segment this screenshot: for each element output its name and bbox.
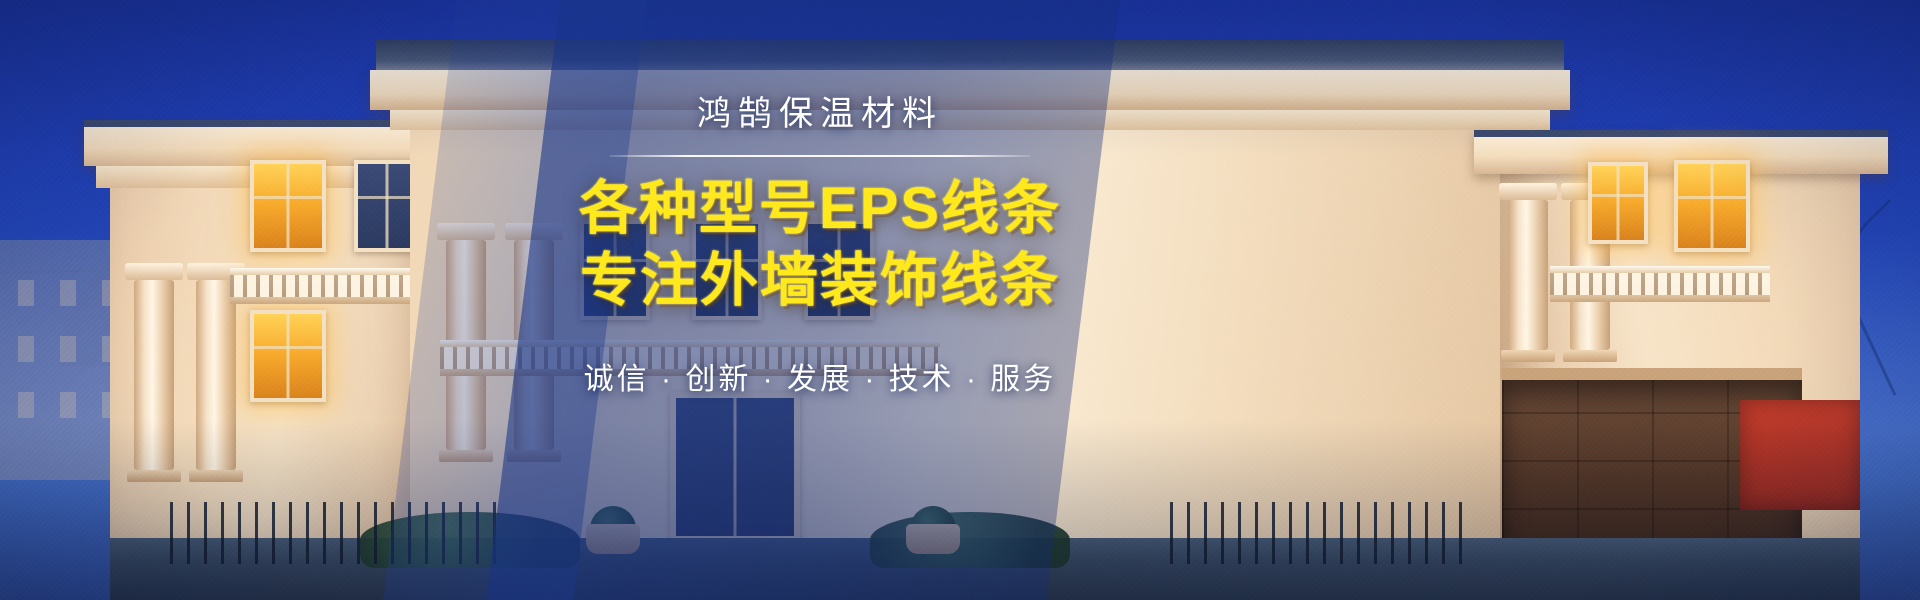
window-lit xyxy=(250,310,326,402)
planter xyxy=(586,524,640,554)
column xyxy=(134,280,174,470)
balustrade xyxy=(230,268,440,304)
column xyxy=(196,280,236,470)
tagline: 诚信 · 创新 · 发展 · 技术 · 服务 xyxy=(560,354,1080,398)
planter xyxy=(906,524,960,554)
balustrade xyxy=(1550,266,1770,302)
window-lit xyxy=(1588,162,1648,244)
hedge xyxy=(870,512,1070,568)
headline-line-2: 专注外墙装饰线条 xyxy=(560,247,1080,314)
fence xyxy=(170,502,510,564)
brand-name: 鸿鹄保温材料 xyxy=(560,96,1080,133)
column xyxy=(1508,200,1548,350)
window-lit xyxy=(250,160,326,252)
entry-door xyxy=(670,392,800,542)
headline-line-1: 各种型号EPS线条 xyxy=(560,175,1080,242)
promo-banner: 鸿鹄保温材料 各种型号EPS线条 专注外墙装饰线条 诚信 · 创新 · 发展 ·… xyxy=(0,0,1920,600)
fence xyxy=(1170,502,1470,564)
window-lit xyxy=(1674,160,1750,252)
banner-content: 鸿鹄保温材料 各种型号EPS线条 专注外墙装饰线条 诚信 · 创新 · 发展 ·… xyxy=(560,96,1080,398)
red-panel xyxy=(1740,400,1860,510)
divider-rule xyxy=(610,155,1030,157)
